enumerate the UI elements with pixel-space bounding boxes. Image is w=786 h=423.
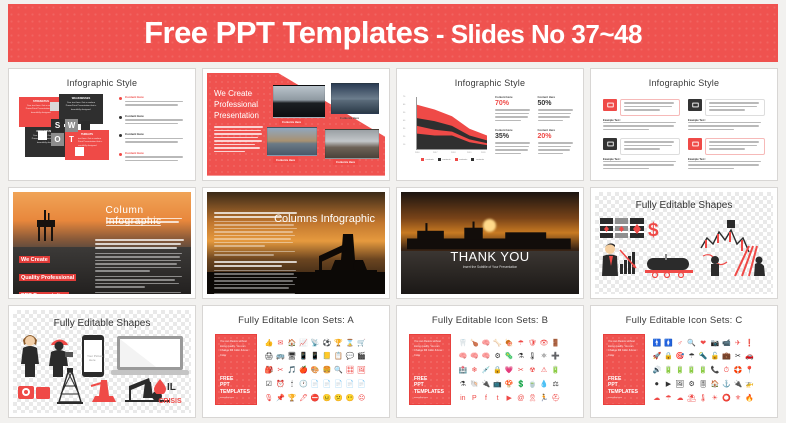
icon-magnifier[interactable]: 🔍: [687, 340, 696, 347]
slide-10-title: Fully Editable Icon Sets: A: [207, 310, 385, 326]
swot-icon-weaknesses: [81, 121, 90, 130]
icon-thermometer[interactable]: 🌡: [528, 353, 537, 360]
icon-book[interactable]: 📒: [322, 353, 331, 360]
icon-flashlight[interactable]: 🔦: [699, 353, 708, 360]
bullet-heading: Content Here: [125, 114, 185, 118]
icon-stopwatch[interactable]: ⏱: [724, 367, 729, 374]
panel-top-text: You can Resize without losing quality. Y…: [414, 340, 446, 358]
slide-9-title: Fully Editable Shapes: [13, 318, 191, 329]
icon-music-note[interactable]: 🎵: [288, 367, 297, 374]
icon-document[interactable]: 📄: [311, 381, 320, 388]
icon-unlock[interactable]: 🔓: [710, 353, 719, 360]
icon-youtube[interactable]: ▶: [507, 395, 512, 402]
icon-radiation[interactable]: ☢: [529, 367, 535, 374]
icon-lock[interactable]: 🔒: [664, 353, 673, 360]
slide-2-title: We Create Professional Presentation: [214, 89, 266, 121]
icon-document[interactable]: 📄: [346, 381, 355, 388]
media-icon: [603, 138, 617, 150]
slide-2-text-block: We Create Professional Presentation: [214, 89, 266, 154]
tanker-wagon-icon: [643, 248, 697, 278]
slide-12-title: Fully Editable Icon Sets: C: [595, 310, 773, 326]
icon-mushroom[interactable]: 🍄: [505, 381, 514, 388]
icon-checkbox[interactable]: ☑: [266, 381, 272, 388]
bullet-dot-icon: [119, 153, 122, 156]
oil-crisis-logo-text: CRISIS: [153, 398, 187, 405]
icon-helicopter[interactable]: 🚁: [745, 381, 754, 388]
panel-top-text: You can Resize without losing quality. Y…: [608, 340, 640, 358]
icon-image[interactable]: 🖼: [676, 381, 685, 388]
icon-picture[interactable]: 🖼: [357, 367, 366, 374]
slide-3-title: Infographic Style: [401, 73, 579, 88]
list-item: Content Here: [119, 114, 185, 127]
y-tick: 30: [403, 128, 405, 130]
x-tick: 2017: [433, 152, 437, 154]
icon-man[interactable]: 🚹: [652, 340, 661, 347]
oil-drop-icon: IL: [153, 378, 187, 394]
slide-thumbnail-12[interactable]: Fully Editable Icon Sets: C You can Resi…: [590, 305, 778, 418]
icon-set-brand-panel: You can Resize without losing quality. Y…: [603, 334, 645, 405]
icon-brain[interactable]: 🧠: [482, 340, 491, 347]
icon-camera[interactable]: 📷: [710, 340, 719, 347]
highlight-tag: Quality Professional: [19, 274, 76, 281]
bullet-heading: Content Here: [125, 95, 185, 99]
chart-legend: contents contents contents contents: [421, 158, 484, 161]
stat-label: Content Here: [538, 95, 575, 99]
icon-house[interactable]: 🏠: [710, 381, 719, 388]
panel-top-text: You can Resize without losing quality. Y…: [220, 340, 252, 358]
y-tick: 70: [403, 96, 405, 98]
icon-beach-umbrella[interactable]: ⛱: [687, 395, 696, 402]
photo-tanker-sunset: [401, 192, 579, 295]
highlight-tags: We Create Quality Professional PPT Prese…: [19, 248, 76, 295]
slide-11-title: Fully Editable Icon Sets: B: [401, 310, 579, 326]
quadrant-caption-label: Example Text :: [603, 158, 621, 161]
icon-heart[interactable]: 💗: [505, 367, 514, 374]
header-banner: Free PPT Templates - Slides No 37~48: [8, 4, 778, 62]
icon-circle[interactable]: ⭕: [722, 395, 731, 402]
icon-steak[interactable]: 🍖: [505, 340, 514, 347]
bullet-dot-icon: [119, 97, 122, 100]
list-item: Content Here: [119, 132, 185, 145]
pumpjack-icon-red: [89, 376, 119, 404]
icon-woman[interactable]: 🚺: [664, 340, 673, 347]
swot-icon-opportunities: [38, 131, 47, 140]
icon-bus[interactable]: 🚌: [276, 353, 285, 360]
icon-scissors[interactable]: ✂: [277, 367, 283, 374]
icon-tv[interactable]: 📺: [493, 381, 502, 388]
icon-backpack[interactable]: 🎒: [264, 367, 273, 374]
list-item: Content Here: [119, 151, 185, 164]
oil-derrick-icon: [57, 368, 83, 404]
icon-droplet[interactable]: 💧: [540, 381, 549, 388]
stat-label: Content Here: [495, 95, 532, 99]
x-tick: 2018: [451, 152, 455, 154]
icon-hourglass[interactable]: ⌛: [346, 340, 355, 347]
icon-linkedin[interactable]: in: [460, 395, 465, 402]
icon-pen[interactable]: 🖊: [299, 395, 308, 402]
icon-clock[interactable]: 🕐: [299, 381, 308, 388]
panel-brand-text: FREE PPT TEMPLATES: [220, 376, 252, 395]
icon-battery-full[interactable]: 🔋: [699, 367, 708, 374]
x-tick: 2020: [481, 152, 485, 154]
highlight-tag: PPT Presentation: [19, 292, 69, 294]
slide-8-title: Fully Editable Shapes: [595, 200, 773, 211]
icon-facebook[interactable]: f: [485, 395, 487, 402]
photo-caption: Contents Here: [279, 119, 304, 125]
slide-6-columns: [214, 212, 299, 295]
icon-face-blank[interactable]: 😶: [346, 395, 355, 402]
legend-swatch: [455, 158, 458, 161]
icon-gear[interactable]: ⚙: [688, 381, 694, 388]
slide-thumbnail-10[interactable]: Fully Editable Icon Sets: A You can Resi…: [202, 305, 390, 418]
icon-face-sad[interactable]: ☹: [358, 395, 365, 402]
icon-location-pin[interactable]: 📍: [745, 367, 754, 374]
slides-grid: Infographic Style STRENGTHS Your text he…: [8, 68, 778, 418]
panel-url: www.allppt.com: [414, 397, 446, 399]
icon-rocket[interactable]: 🚀: [652, 353, 661, 360]
icon-grid-b: 🦷 🍗 🧠 🦴 🍖 ☂ 🛡 👁 🚪 🧠 🧠 🧠 ⚙ 🦠 ⚗: [457, 336, 573, 405]
quadrant-item: Example Text :: [603, 99, 680, 132]
icon-thumbs-up[interactable]: 👍: [264, 340, 273, 347]
photo-refinery: [273, 85, 325, 118]
icon-target[interactable]: 🎯: [676, 353, 685, 360]
icon-dna[interactable]: ⚛: [541, 353, 547, 360]
stat-value: 70%: [495, 100, 532, 107]
legend-item: contents: [455, 158, 468, 161]
photo-caption: Contents Here: [273, 157, 298, 163]
smartphone-icon: Your Picture Here: [81, 334, 105, 378]
icon-scale[interactable]: ⚖: [552, 381, 558, 388]
icon-document[interactable]: 📄: [357, 381, 366, 388]
y-tick: 40: [403, 120, 405, 122]
slide-thumbnail-1[interactable]: Infographic Style STRENGTHS Your text he…: [8, 68, 196, 181]
icon-plus[interactable]: ➕: [551, 353, 560, 360]
icon-phone[interactable]: 📱: [299, 353, 308, 360]
quadrant-item: Example Text :: [688, 99, 765, 132]
laptop-icon: [111, 334, 189, 378]
bullet-heading: Content Here: [125, 151, 185, 155]
icon-play[interactable]: ▶: [666, 381, 671, 388]
icon-video-camera[interactable]: 📹: [722, 340, 731, 347]
icon-pin[interactable]: 📌: [276, 395, 285, 402]
icon-alarm-clock[interactable]: ⏰: [276, 381, 285, 388]
stats-grid: Content Here 70% Content Here 50% Conten…: [495, 95, 574, 156]
icon-monitor[interactable]: 🖥: [288, 353, 297, 360]
icon-battery-empty[interactable]: 🔋: [664, 367, 673, 374]
slide-thumbnail-11[interactable]: Fully Editable Icon Sets: B You can Resi…: [396, 305, 584, 418]
icon-shield[interactable]: 🛡: [528, 340, 537, 347]
y-tick: 50: [403, 112, 405, 114]
camera-icon: [17, 380, 51, 404]
icon-exclamation[interactable]: ❗: [745, 340, 754, 347]
icon-slider[interactable]: 🎚: [699, 381, 708, 388]
icon-battery-low[interactable]: 🔋: [676, 367, 685, 374]
icon-printer[interactable]: 🖨: [264, 353, 273, 360]
chart-plot-area: [417, 97, 487, 149]
icon-apple[interactable]: 🍎: [299, 367, 308, 374]
quadrant-bubble: [620, 138, 680, 155]
icon-helmet[interactable]: ⛑: [551, 395, 560, 402]
quadrant-item: Example Text :: [603, 138, 680, 171]
icon-head-profile[interactable]: 🧠: [458, 353, 467, 360]
swot-letter-t: T: [65, 133, 78, 146]
oil-barrel-icon: [599, 216, 645, 240]
icon-plug[interactable]: 🔌: [734, 381, 743, 388]
photo-caption: Contents Here: [337, 115, 362, 121]
photo-tanker-wagon: [325, 129, 379, 159]
slide-thumbnail-3[interactable]: Infographic Style 70 60 50 40 30: [396, 68, 584, 181]
stat-item: Content Here 50%: [538, 95, 575, 123]
panel-brand-text: FREE PPT TEMPLATES: [608, 376, 640, 395]
icon-ribbon[interactable]: 🎗: [528, 395, 537, 402]
icon-grid[interactable]: 🎛: [346, 367, 355, 374]
stat-item: Content Here 70%: [495, 95, 532, 123]
icon-ball[interactable]: ⚽: [322, 340, 331, 347]
icon-umbrella[interactable]: ☂: [688, 353, 694, 360]
legend-label: contents: [442, 159, 450, 161]
pumpjack-silhouette: [315, 230, 377, 280]
icon-door[interactable]: 🚪: [551, 340, 560, 347]
quadrant-bubble: [705, 138, 765, 155]
area-chart: 70 60 50 40 30 20 10 2016 2017 2018 2019…: [409, 97, 487, 159]
icon-scissors[interactable]: ✂: [518, 367, 524, 374]
stat-label: Content Here: [495, 128, 532, 132]
stat-label: Content Here: [538, 128, 575, 132]
quadrant-bubble: [705, 99, 765, 116]
icon-film[interactable]: 🎬: [357, 353, 366, 360]
legend-swatch: [471, 158, 474, 161]
icon-lock[interactable]: 🔒: [493, 367, 502, 374]
icon-twitter[interactable]: t: [497, 395, 499, 402]
icon-bone[interactable]: 🦴: [493, 340, 502, 347]
icon-briefcase[interactable]: 💼: [722, 353, 731, 360]
icon-chart[interactable]: 📈: [299, 340, 308, 347]
icon-snowflake[interactable]: ❄: [471, 367, 477, 374]
photo-rig-water: [331, 83, 379, 114]
icon-syringe[interactable]: 💉: [482, 367, 491, 374]
banner-main-title: Free PPT Templates: [144, 15, 429, 50]
x-tick: 2016: [415, 152, 419, 154]
photo-city-river: [267, 127, 317, 156]
quadrant-caption-label: Example Text :: [688, 119, 706, 122]
icon-battery-mid[interactable]: 🔋: [687, 367, 696, 374]
media-icon: [688, 138, 702, 150]
icon-face-neutral[interactable]: 😐: [322, 395, 331, 402]
icon-speaker[interactable]: 🔊: [652, 367, 661, 374]
bullet-dot-icon: [119, 116, 122, 119]
legend-item: contents: [438, 158, 451, 161]
icon-virus[interactable]: 🦠: [505, 353, 514, 360]
icon-umbrella[interactable]: ☂: [518, 340, 524, 347]
swot-weaknesses-heading: WEAKNESSES: [62, 97, 100, 100]
banner-title: Free PPT Templates - Slides No 37~48: [144, 15, 642, 51]
legend-label: contents: [476, 159, 484, 161]
icon-cloud[interactable]: ☁: [653, 395, 660, 402]
icon-thermometer[interactable]: 🌡: [699, 395, 708, 402]
icon-trophy[interactable]: 🏆: [334, 340, 343, 347]
businessman-with-chart-icon: [600, 242, 640, 276]
chart-axes: [416, 97, 487, 150]
icon-set-brand-panel: You can Resize without losing quality. Y…: [215, 334, 257, 405]
media-icon: [688, 99, 702, 111]
bullet-heading: Content Here: [125, 132, 185, 136]
icon-speech-bubble[interactable]: 💬: [346, 353, 355, 360]
icon-telephone[interactable]: 📞: [710, 367, 719, 374]
icon-pinterest[interactable]: P: [472, 395, 477, 402]
icon-car[interactable]: 🚗: [745, 353, 754, 360]
icon-hospital[interactable]: 🏥: [458, 367, 467, 374]
icon-dollar[interactable]: 💲: [516, 381, 525, 388]
icon-flask[interactable]: ⚗: [518, 353, 524, 360]
swot-weaknesses-body: Your text here. Get a modern PowerPoint …: [62, 102, 100, 112]
icon-document[interactable]: 📄: [334, 381, 343, 388]
icon-beaker[interactable]: ⚗: [460, 381, 466, 388]
icon-male-symbol[interactable]: ♂: [677, 340, 682, 347]
quadrant-item: Example Text :: [688, 138, 765, 171]
slide-thumbnail-2[interactable]: We Create Professional Presentation Cont…: [202, 68, 390, 181]
icon-eye[interactable]: 👁: [540, 340, 549, 347]
icon-envelope[interactable]: ✉: [277, 340, 283, 347]
icon-meat[interactable]: 🍗: [470, 340, 479, 347]
swot-icon-threats: [75, 147, 84, 156]
icon-plane[interactable]: ✈: [735, 340, 741, 347]
legend-label: contents: [459, 159, 467, 161]
icon-warning[interactable]: ⚠: [541, 367, 547, 374]
stat-item: Content Here 20%: [538, 128, 575, 156]
icon-scissors[interactable]: ✂: [735, 353, 741, 360]
icon-signal[interactable]: 📡: [311, 340, 320, 347]
icon-grid-a: 👍 ✉ 🏠 📈 📡 ⚽ 🏆 ⌛ 🛒 🖨 🚌 🖥 📱 📱 📒: [263, 336, 379, 405]
panel-url: www.allppt.com: [220, 397, 252, 399]
slide-thumbnail-9[interactable]: Fully Editable Shapes Yo: [8, 305, 196, 418]
slide-thumbnail-8[interactable]: Fully Editable Shapes $: [590, 187, 778, 300]
icon-head-silhouette[interactable]: 🧠: [470, 353, 479, 360]
bullet-dot-icon: [119, 134, 122, 137]
swot-letter-w: W: [65, 119, 78, 132]
icon-life-ring[interactable]: 🛟: [734, 367, 743, 374]
panel-brand-text: FREE PPT TEMPLATES: [414, 376, 446, 395]
icon-cloudy[interactable]: ☁: [676, 395, 683, 402]
icon-palette[interactable]: 🎨: [311, 367, 320, 374]
stat-value: 50%: [538, 100, 575, 107]
stat-value: 35%: [495, 133, 532, 140]
icon-grid-c: 🚹 🚺 ♂ 🔍 ❤ 📷 📹 ✈ ❗ 🚀 🔒 🎯 ☂ 🔦 🔓: [651, 336, 767, 405]
icon-battery[interactable]: 🔋: [551, 367, 560, 374]
quadrant-grid: Example Text : Example Text :: [603, 99, 765, 171]
legend-swatch: [438, 158, 441, 161]
swot-diagram: STRENGTHS Your text here. Get a modern P…: [19, 97, 111, 159]
slide-5-subtitle-lines: [106, 218, 185, 229]
businesswoman-icon: [19, 332, 41, 378]
price-bars-icon: [729, 242, 769, 278]
slide-thumbnail-5[interactable]: Column Infographic We Create Quality Pro…: [8, 187, 196, 300]
icon-record[interactable]: ⏺: [655, 381, 659, 388]
icon-sun[interactable]: ☀: [712, 395, 718, 402]
stat-item: Content Here 35%: [495, 128, 532, 156]
icon-shell[interactable]: 🐚: [470, 381, 479, 388]
swot-letter-s: S: [51, 119, 64, 132]
icon-at-sign[interactable]: @: [517, 395, 524, 402]
legend-item: contents: [471, 158, 484, 161]
content-bullet-list: Content Here Content Here: [119, 95, 185, 169]
stat-value: 20%: [538, 133, 575, 140]
icon-fleur[interactable]: ⚜: [735, 395, 741, 402]
icon-clipboard[interactable]: 📋: [334, 353, 343, 360]
slides-preview-page: Free PPT Templates - Slides No 37~48 Inf…: [0, 0, 786, 423]
icon-anchor[interactable]: ⚓: [722, 381, 731, 388]
icon-tea[interactable]: 🍵: [528, 381, 537, 388]
slide-thumbnail-6[interactable]: Columns Infographic: [202, 187, 390, 300]
banner-subtitle: - Slides No 37~48: [429, 19, 642, 49]
icon-tablet[interactable]: 📱: [311, 353, 320, 360]
icon-fire[interactable]: 🔥: [745, 395, 754, 402]
quadrant-bubble: [620, 99, 680, 116]
icon-document[interactable]: 📄: [322, 381, 331, 388]
oil-rig-silhouette: [29, 208, 63, 242]
swot-letter-o: O: [51, 133, 64, 146]
icon-search[interactable]: 🔍: [334, 367, 343, 374]
legend-swatch: [421, 158, 424, 161]
svg-text:IL: IL: [167, 382, 176, 393]
icon-no-entry[interactable]: ⛔: [311, 395, 320, 402]
quadrant-caption-label: Example Text :: [603, 119, 621, 122]
y-tick: 60: [403, 104, 405, 106]
photo-caption: Contents Here: [333, 159, 358, 165]
icon-head-gear[interactable]: ⚙: [494, 353, 500, 360]
svg-text:Here: Here: [89, 358, 96, 362]
icon-set-brand-panel: You can Resize without losing quality. Y…: [409, 334, 451, 405]
icon-burger[interactable]: 🍔: [322, 367, 331, 374]
ship-silhouette: [407, 220, 571, 251]
y-tick: 10: [403, 144, 405, 146]
icon-runner[interactable]: 🏃: [540, 395, 549, 402]
icon-award[interactable]: 🏆: [288, 395, 297, 402]
icon-home[interactable]: 🏠: [288, 340, 297, 347]
thank-you-title: THANK YOU: [401, 249, 579, 264]
y-tick: 20: [403, 136, 405, 138]
slide-thumbnail-7[interactable]: THANK YOU Insert the Subtitle of Your Pr…: [396, 187, 584, 300]
slide-thumbnail-4[interactable]: Infographic Style Example Text :: [590, 68, 778, 181]
icon-rain[interactable]: ☂: [665, 395, 671, 402]
svg-text:$: $: [648, 220, 659, 240]
slide-5-body: [95, 239, 186, 295]
legend-item: contents: [421, 158, 434, 161]
thank-you-subtitle: Insert the Subtitle of Your Presentation: [401, 265, 579, 269]
x-tick: 2019: [467, 152, 471, 154]
panel-url: www.allppt.com: [608, 397, 640, 399]
icon-face-confused[interactable]: 😕: [334, 395, 343, 402]
swot-icon-strengths: [50, 102, 59, 111]
icon-microphone[interactable]: 🎙: [264, 395, 273, 402]
icon-candle[interactable]: 🕯: [291, 381, 293, 388]
highlight-tag: We Create: [19, 256, 50, 263]
legend-label: contents: [426, 159, 434, 161]
media-icon: [603, 99, 617, 111]
icon-head-think[interactable]: 🧠: [482, 353, 491, 360]
icon-tooth[interactable]: 🦷: [458, 340, 467, 347]
oil-crisis-logo: IL CRISIS: [153, 378, 187, 405]
icon-heart[interactable]: ❤: [700, 340, 706, 347]
icon-plug[interactable]: 🔌: [482, 381, 491, 388]
slide-4-title: Infographic Style: [595, 73, 773, 88]
slide-1-title: Infographic Style: [13, 73, 191, 88]
list-item: Content Here: [119, 95, 185, 108]
icon-cart[interactable]: 🛒: [357, 340, 366, 347]
quadrant-caption-label: Example Text :: [688, 158, 706, 161]
dollar-sign-icon: $: [647, 218, 663, 240]
